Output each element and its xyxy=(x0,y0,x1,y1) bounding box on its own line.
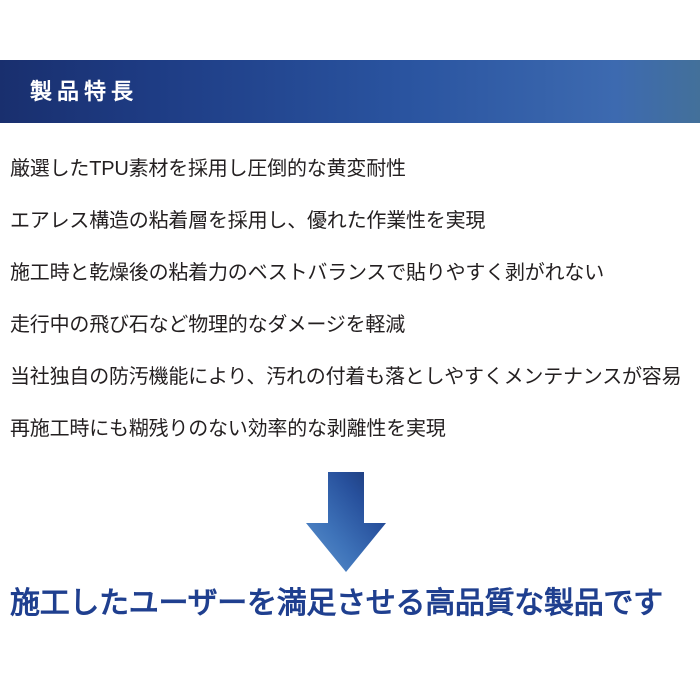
section-header-band: 製品特長 xyxy=(0,60,700,123)
page-title: 製品特長 xyxy=(30,81,138,103)
feature-item: エアレス構造の粘着層を採用し、優れた作業性を実現 xyxy=(10,195,700,247)
feature-list: 厳選したTPU素材を採用し圧倒的な黄変耐性 エアレス構造の粘着層を採用し、優れた… xyxy=(10,143,700,455)
feature-item: 走行中の飛び石など物理的なダメージを軽減 xyxy=(10,299,700,351)
feature-item: 再施工時にも糊残りのない効率的な剥離性を実現 xyxy=(10,403,700,455)
feature-item: 施工時と乾燥後の粘着力のベストバランスで貼りやすく剥がれない xyxy=(10,247,700,299)
feature-item: 当社独自の防汚機能により、汚れの付着も落としやすくメンテナンスが容易 xyxy=(10,351,700,403)
feature-item: 厳選したTPU素材を採用し圧倒的な黄変耐性 xyxy=(10,143,700,195)
conclusion-headline: 施工したユーザーを満足させる高品質な製品です xyxy=(10,582,700,626)
product-features-panel: 製品特長 厳選したTPU素材を採用し圧倒的な黄変耐性 エアレス構造の粘着層を採用… xyxy=(0,0,700,700)
arrow-down-icon xyxy=(303,470,389,574)
